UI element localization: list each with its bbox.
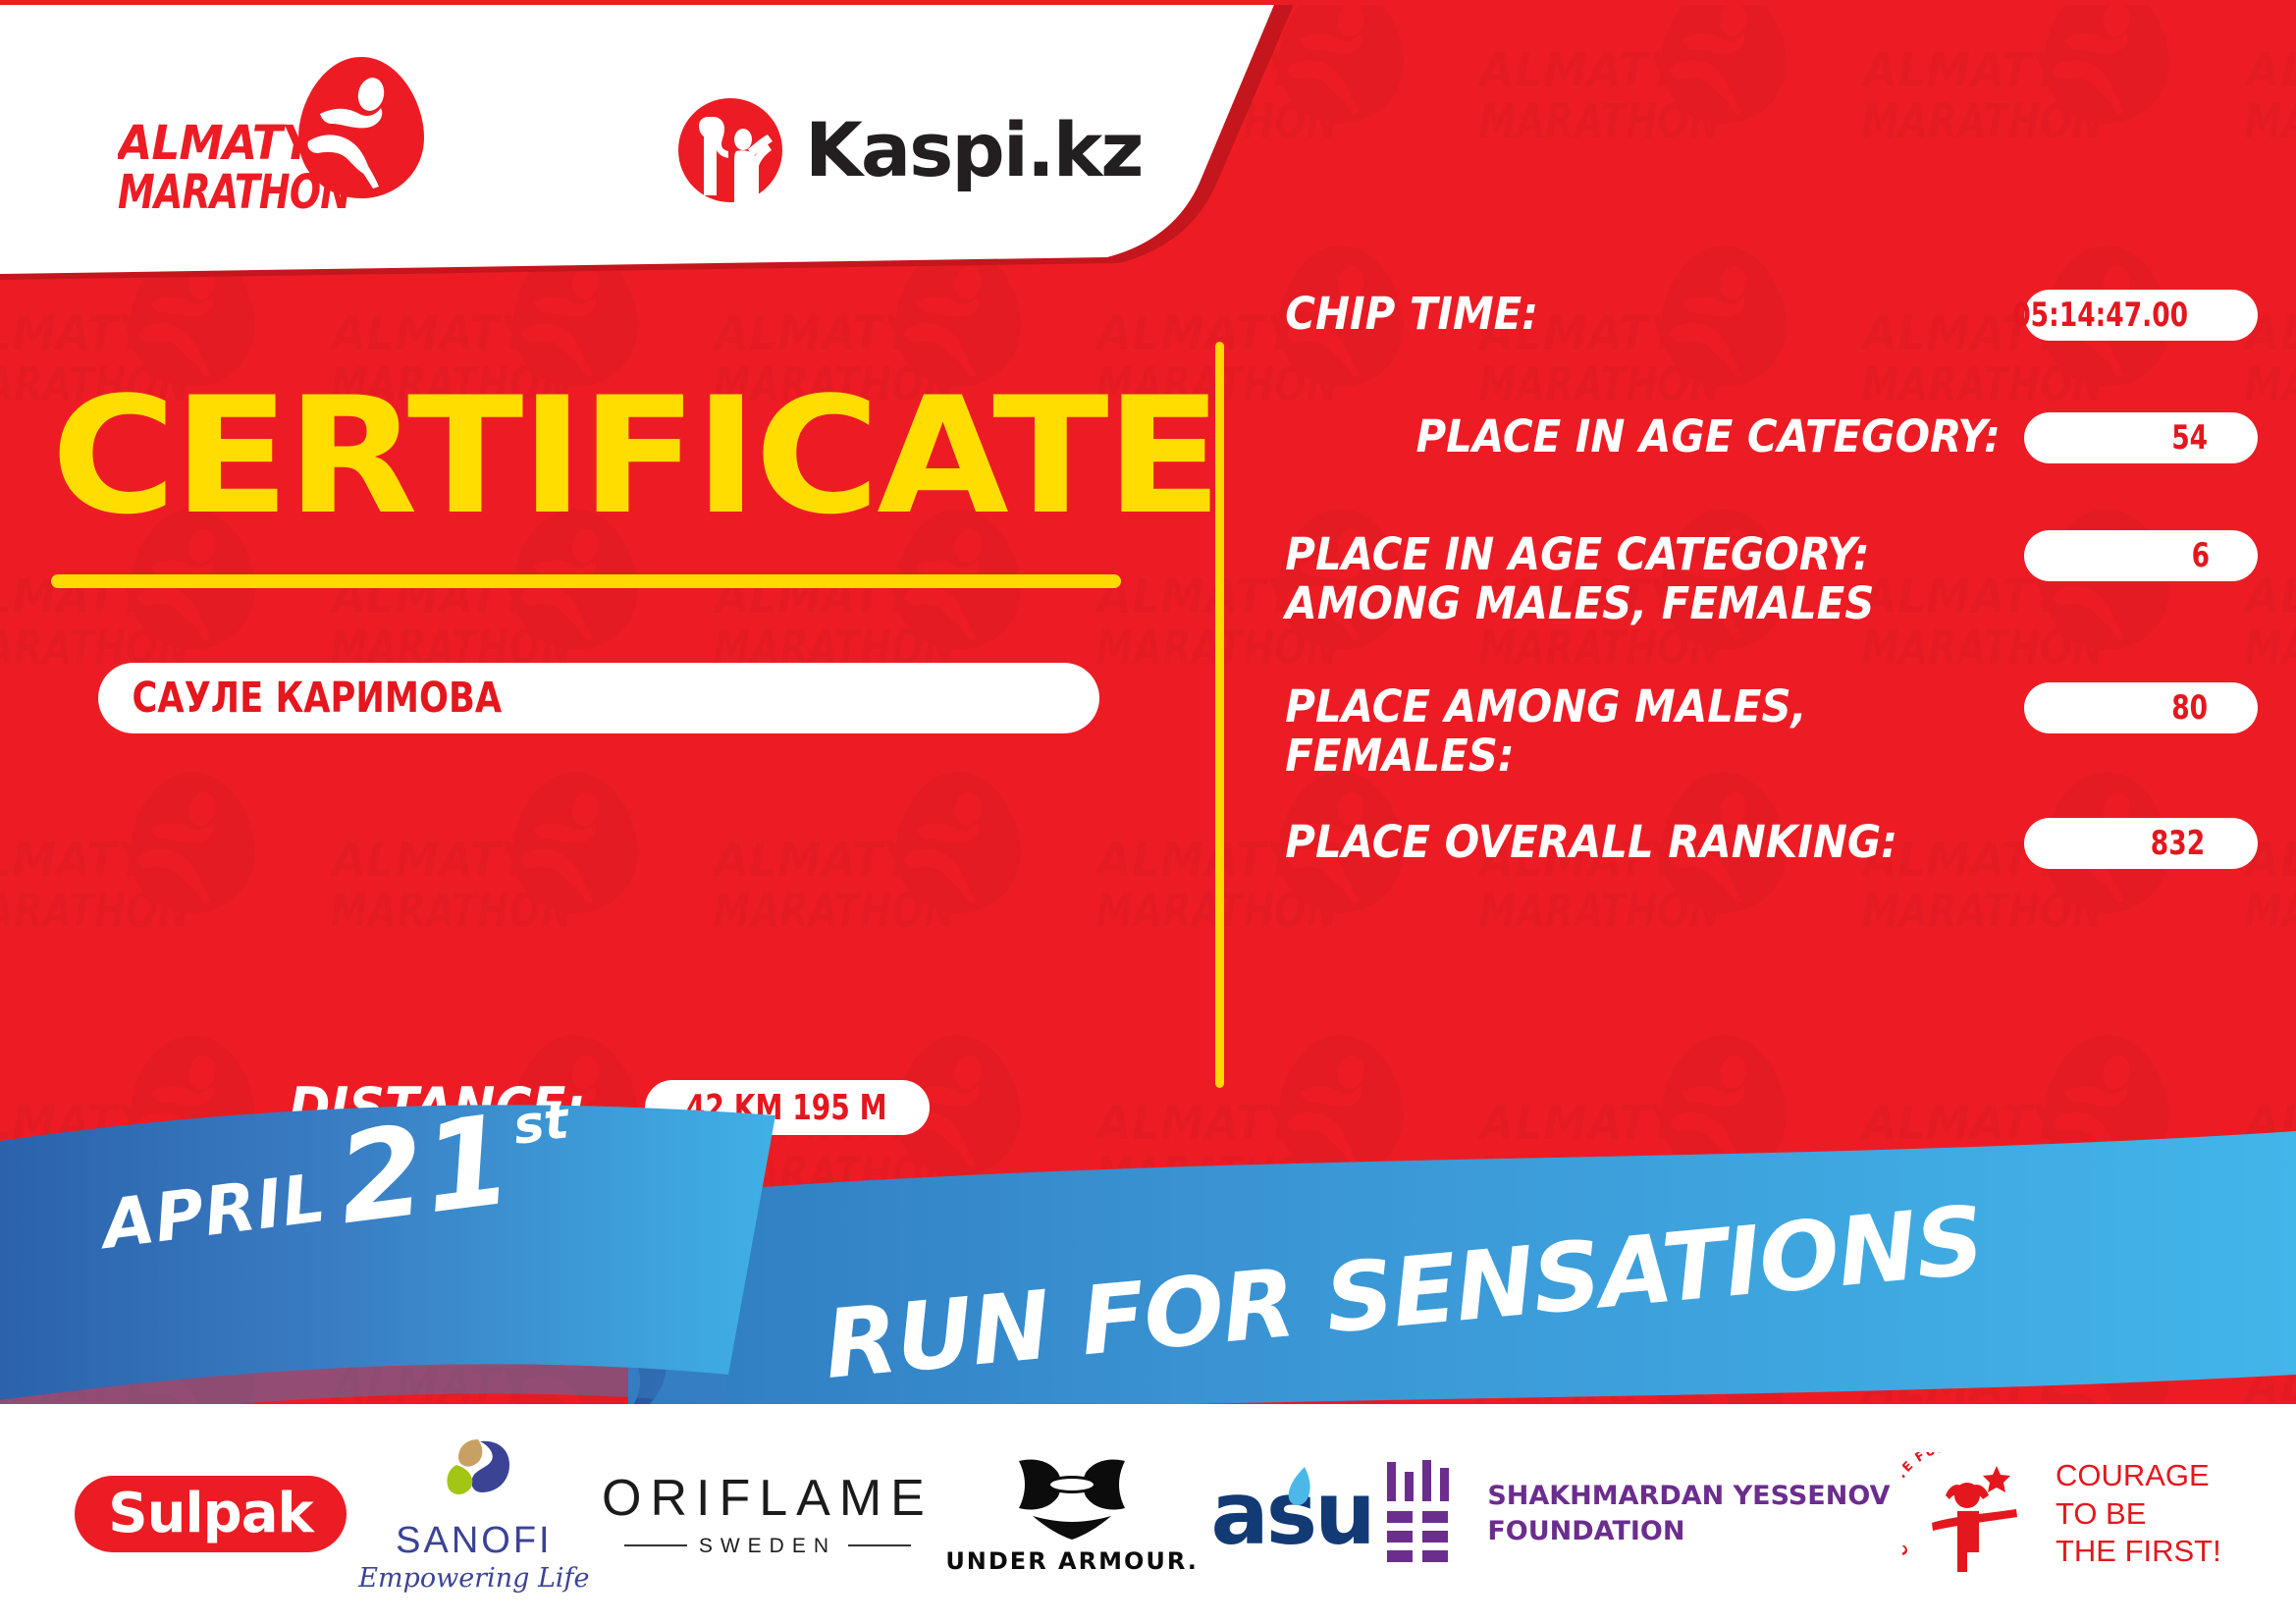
under-armour-mark-icon bbox=[1013, 1455, 1131, 1542]
event-day: 21 bbox=[333, 1106, 517, 1235]
place-age-category-gender-value: 6 bbox=[2192, 536, 2210, 575]
oriflame-rule-right bbox=[848, 1544, 911, 1546]
stat-row-place-overall: PLACE OVERALL RANKING: 832 bbox=[1276, 818, 2258, 869]
sponsor-under-armour[interactable]: UNDER ARMOUR. bbox=[945, 1445, 1199, 1583]
svg-text:ALMATY: ALMATY bbox=[118, 117, 318, 171]
yessenov-wordmark: SHAKHMARDAN YESSENOV FOUNDATION bbox=[1487, 1479, 1890, 1550]
yessenov-wordmark-line2: FOUNDATION bbox=[1487, 1516, 1684, 1546]
almaty-marathon-logo[interactable]: ALMATY MARATHON bbox=[118, 51, 442, 213]
under-armour-wordmark: UNDER ARMOUR. bbox=[945, 1549, 1199, 1573]
kaspi-circle-icon bbox=[677, 97, 783, 203]
sponsor-asu[interactable]: asu bbox=[1210, 1445, 1372, 1583]
kaspi-kz-logo[interactable]: Kaspi.kz bbox=[677, 88, 1070, 211]
chip-time-value: 05:14:47.00 bbox=[2012, 296, 2188, 335]
sponsor-sulpak[interactable]: Sulpak bbox=[75, 1445, 347, 1583]
place-age-category-gender-label: PLACE IN AGE CATEGORY: AMONG MALES, FEMA… bbox=[1276, 530, 1972, 629]
oriflame-wordmark: ORIFLAME bbox=[602, 1473, 934, 1524]
certificate-canvas: ALMATY MARATHON Kaspi.kz CERTIFICATE bbox=[0, 0, 2296, 1624]
sponsor-footer: Sulpak SANOFI Empowering Life ORIFLAME bbox=[0, 1404, 2296, 1624]
place-among-gender-label: PLACE AMONG MALES, FEMALES: bbox=[1276, 682, 1972, 782]
place-age-category-gender-label-line2: AMONG MALES, FEMALES bbox=[1285, 577, 1874, 629]
chip-time-label: CHIP TIME: bbox=[1276, 290, 1972, 339]
participant-name-field[interactable]: САУЛЕ КАРИМОВА bbox=[98, 663, 1099, 733]
top-red-rule bbox=[0, 0, 2296, 5]
sponsor-yessenov-foundation[interactable]: SHAKHMARDAN YESSENOV FOUNDATION bbox=[1385, 1445, 1890, 1583]
place-among-gender-value: 80 bbox=[2171, 688, 2208, 728]
place-age-category-value-pill: 54 bbox=[2024, 412, 2258, 463]
sponsor-courage-fund[interactable]: CORPORATE FUND COURAGE TO BE THE FIRST! bbox=[1902, 1445, 2221, 1583]
kaspi-wordmark: Kaspi.kz bbox=[805, 113, 1143, 188]
stat-row-place-among-gender: PLACE AMONG MALES, FEMALES: 80 bbox=[1276, 682, 2258, 782]
certificate-title-underline bbox=[51, 574, 1121, 588]
courage-fund-line1: COURAGE bbox=[2056, 1458, 2210, 1492]
header-logo-row: ALMATY MARATHON Kaspi.kz bbox=[0, 0, 1276, 275]
chip-time-value-pill: 05:14:47.00 bbox=[2024, 290, 2258, 341]
asu-droplet-icon bbox=[1285, 1465, 1314, 1510]
place-overall-value-pill: 832 bbox=[2024, 818, 2258, 869]
oriflame-rule-left bbox=[624, 1544, 687, 1546]
courage-fund-wordmark: COURAGE TO BE THE FIRST! bbox=[2056, 1457, 2221, 1571]
certificate-title: CERTIFICATE bbox=[51, 376, 1219, 537]
place-overall-label: PLACE OVERALL RANKING: bbox=[1276, 818, 1972, 867]
sponsor-oriflame[interactable]: ORIFLAME SWEDEN bbox=[602, 1445, 934, 1583]
stat-row-chip-time: CHIP TIME: 05:14:47.00 bbox=[1276, 290, 2258, 341]
place-among-gender-value-pill: 80 bbox=[2024, 682, 2258, 733]
courage-fund-line3: THE FIRST! bbox=[2056, 1534, 2221, 1568]
place-age-category-gender-value-pill: 6 bbox=[2024, 530, 2258, 581]
sanofi-tagline: Empowering Life bbox=[358, 1565, 589, 1592]
sanofi-mark-icon bbox=[427, 1437, 521, 1516]
courage-fund-mark-icon: CORPORATE FUND bbox=[1902, 1452, 2040, 1576]
place-among-gender-label-line2: FEMALES: bbox=[1285, 730, 1514, 782]
yessenov-mark-icon bbox=[1385, 1460, 1462, 1568]
place-age-category-value: 54 bbox=[2171, 418, 2208, 458]
participant-name: САУЛЕ КАРИМОВА bbox=[98, 674, 502, 723]
place-among-gender-label-line1: PLACE AMONG MALES, bbox=[1285, 680, 1806, 732]
place-overall-value: 832 bbox=[2151, 824, 2205, 863]
sulpak-logo: Sulpak bbox=[75, 1476, 347, 1553]
place-age-category-gender-label-line1: PLACE IN AGE CATEGORY: bbox=[1285, 528, 1869, 580]
place-age-category-label: PLACE IN AGE CATEGORY: bbox=[1328, 412, 2024, 461]
oriflame-tagline: SWEDEN bbox=[699, 1536, 836, 1556]
courage-fund-arc-label: CORPORATE FUND bbox=[1902, 1452, 1960, 1558]
svg-text:MARATHON: MARATHON bbox=[118, 166, 351, 213]
courage-fund-line2: TO BE bbox=[2056, 1496, 2146, 1531]
sanofi-wordmark: SANOFI bbox=[358, 1522, 589, 1559]
column-divider bbox=[1215, 342, 1224, 1088]
svg-text:CORPORATE FUND: CORPORATE FUND bbox=[1902, 1452, 1960, 1558]
stat-row-place-age-category: PLACE IN AGE CATEGORY: 54 bbox=[1276, 412, 2258, 463]
sponsor-sanofi[interactable]: SANOFI Empowering Life bbox=[358, 1445, 589, 1583]
yessenov-wordmark-line1: SHAKHMARDAN YESSENOV bbox=[1487, 1481, 1890, 1511]
stat-row-place-age-category-gender: PLACE IN AGE CATEGORY: AMONG MALES, FEMA… bbox=[1276, 530, 2258, 629]
